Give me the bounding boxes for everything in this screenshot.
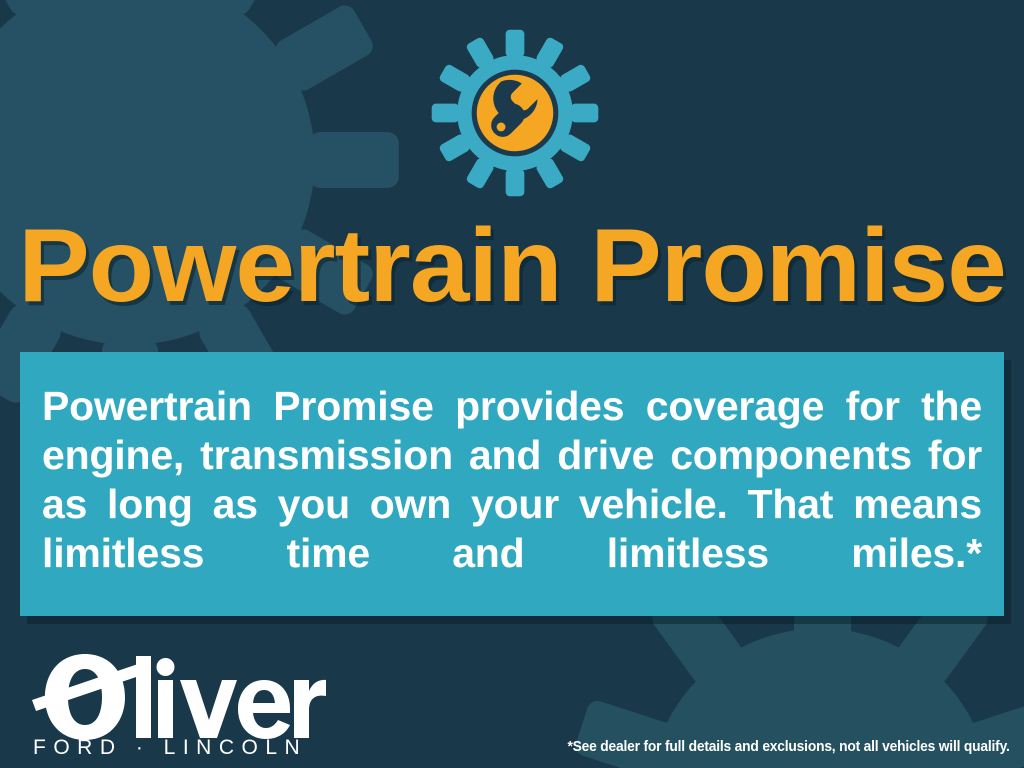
promo-poster: Powertrain Promise Powertrain Promise pr… (0, 0, 1024, 768)
dealer-logo: FORD · LINCOLN Oliver FORD · LINCOLN (28, 642, 328, 758)
disclaimer-text: *See dealer for full details and exclusi… (568, 738, 1010, 756)
page-title: Powertrain Promise (0, 214, 1024, 318)
promise-description-panel: Powertrain Promise provides coverage for… (20, 352, 1004, 616)
dealer-logo-subtext: FORD · LINCOLN (33, 736, 307, 758)
promise-description-text: Powertrain Promise provides coverage for… (42, 382, 982, 627)
gear-wrench-icon (430, 28, 600, 198)
